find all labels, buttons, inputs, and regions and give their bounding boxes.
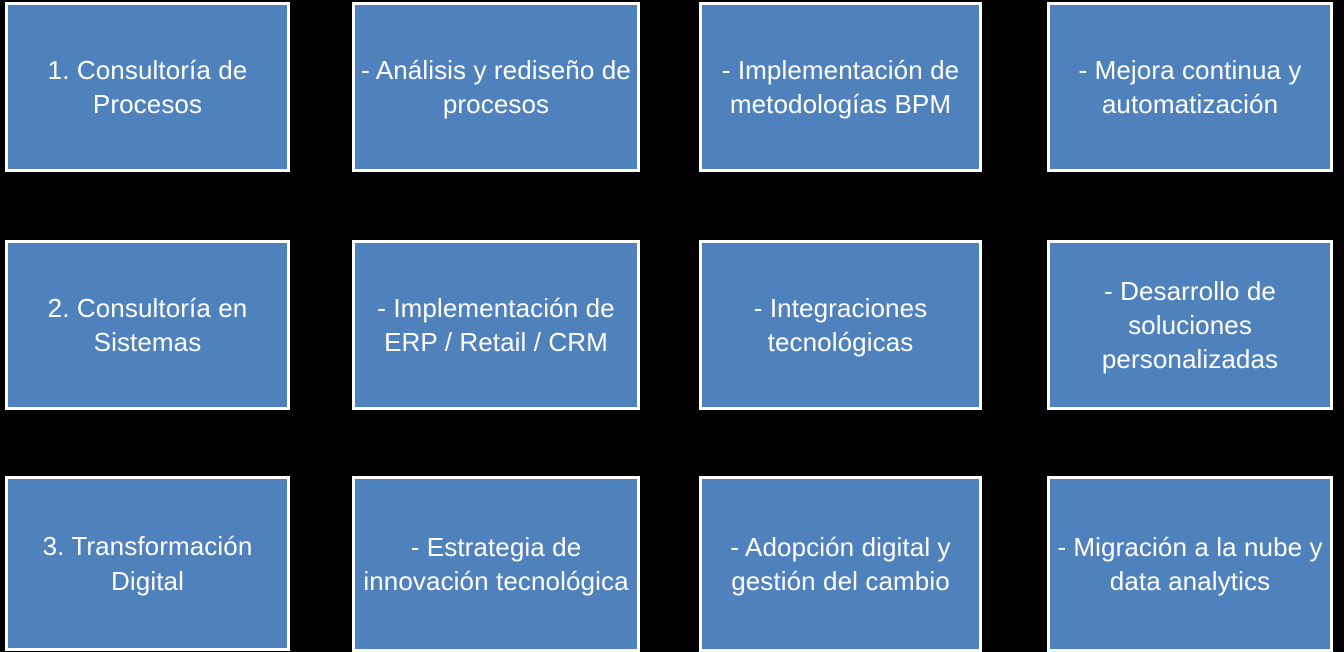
matrix-cell-label: - Estrategia de innovación tecnológica [355, 530, 637, 599]
matrix-cell-r1c4[interactable]: - Mejora continua y automatización [1047, 2, 1333, 172]
matrix-cell-r3c3[interactable]: - Adopción digital y gestión del cambio [699, 476, 982, 652]
matrix-cell-r1c3[interactable]: - Implementación de metodologías BPM [699, 2, 982, 172]
matrix-cell-label: 2. Consultoría en Sistemas [8, 291, 287, 360]
matrix-cell-label: - Implementación de ERP / Retail / CRM [355, 291, 637, 360]
matrix-cell-label: - Migración a la nube y data analytics [1050, 530, 1330, 599]
matrix-cell-r2c1[interactable]: 2. Consultoría en Sistemas [5, 240, 290, 410]
matrix-cell-label: - Integraciones tecnológicas [702, 291, 979, 360]
matrix-cell-label: 3. Transformación Digital [8, 529, 287, 598]
matrix-cell-r2c2[interactable]: - Implementación de ERP / Retail / CRM [352, 240, 640, 410]
matrix-cell-label: - Adopción digital y gestión del cambio [702, 530, 979, 599]
matrix-cell-label: - Análisis y rediseño de procesos [355, 53, 637, 122]
matrix-cell-r3c4[interactable]: - Migración a la nube y data analytics [1047, 476, 1333, 652]
matrix-cell-r1c1[interactable]: 1. Consultoría de Procesos [5, 2, 290, 172]
matrix-cell-r2c4[interactable]: - Desarrollo de soluciones personalizada… [1047, 240, 1333, 410]
matrix-cell-r3c2[interactable]: - Estrategia de innovación tecnológica [352, 476, 640, 652]
matrix-cell-r2c3[interactable]: - Integraciones tecnológicas [699, 240, 982, 410]
matrix-cell-r3c1[interactable]: 3. Transformación Digital [5, 476, 290, 651]
services-matrix: 1. Consultoría de Procesos - Análisis y … [0, 0, 1344, 648]
matrix-cell-r1c2[interactable]: - Análisis y rediseño de procesos [352, 2, 640, 172]
matrix-cell-label: 1. Consultoría de Procesos [8, 53, 287, 122]
matrix-cell-label: - Desarrollo de soluciones personalizada… [1050, 274, 1330, 377]
matrix-cell-label: - Implementación de metodologías BPM [702, 53, 979, 122]
matrix-cell-label: - Mejora continua y automatización [1050, 53, 1330, 122]
